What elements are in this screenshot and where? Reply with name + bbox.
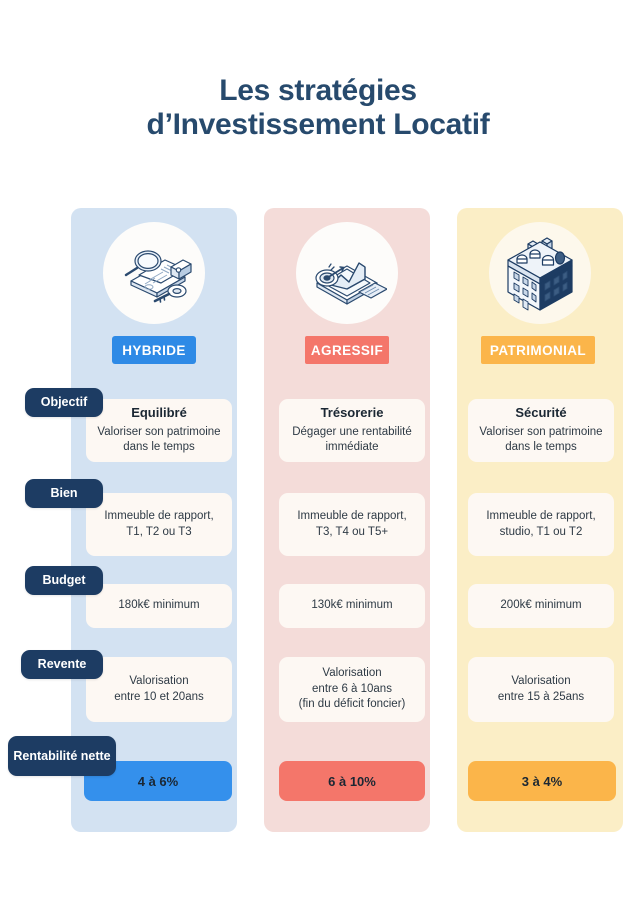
apartment-building-icon [502,232,578,314]
cell-body: Valorisation entre 6 à 10ans (fin du déf… [299,666,406,713]
magnifier-documents-key-icon [115,237,193,309]
cell-body: 180k€ minimum [118,598,199,614]
cell-body: Valorisation entre 10 et 20ans [114,674,204,705]
title-line-1: Les stratégies [0,74,636,108]
strategy-badge-patrimonial[interactable]: PATRIMONIAL [481,336,595,364]
cell-budget-patrimonial: 200k€ minimum [468,584,614,628]
cell-objectif-agressif: Trésorerie Dégager une rentabilité imméd… [279,399,425,462]
row-label-bien: Bien [25,479,103,508]
cell-body: Dégager une rentabilité immédiate [292,425,412,456]
cell-budget-agressif: 130k€ minimum [279,584,425,628]
page-title: Les stratégies d’Investissement Locatif [0,74,636,142]
cell-heading: Equilibré [131,405,187,421]
icon-circle-hybride [103,222,205,324]
cell-body: Valorisation entre 15 à 25ans [498,674,584,705]
row-label-revente: Revente [21,650,103,679]
cell-body: Valoriser son patrimoine dans le temps [479,425,602,456]
cell-body: Immeuble de rapport, T1, T2 ou T3 [104,509,213,540]
strategy-badge-agressif[interactable]: AGRESSIF [305,336,389,364]
cell-bien-agressif: Immeuble de rapport, T3, T4 ou T5+ [279,493,425,556]
cell-objectif-hybride: Equilibré Valoriser son patrimoine dans … [86,399,232,462]
row-label-objectif: Objectif [25,388,103,417]
icon-circle-patrimonial [489,222,591,324]
cell-objectif-patrimonial: Sécurité Valoriser son patrimoine dans l… [468,399,614,462]
strategy-badge-hybride[interactable]: HYBRIDE [112,336,196,364]
title-line-2: d’Investissement Locatif [0,108,636,142]
icon-circle-agressif [296,222,398,324]
row-label-budget: Budget [25,566,103,595]
cell-body: 200k€ minimum [500,598,581,614]
cell-rentabilite-agressif: 6 à 10% [279,761,425,801]
cell-body: 130k€ minimum [311,598,392,614]
cell-rentabilite-patrimonial: 3 à 4% [468,761,616,801]
cell-budget-hybride: 180k€ minimum [86,584,232,628]
cell-heading: Sécurité [515,405,566,421]
target-arrow-chart-tablet-icon [307,237,387,309]
cell-revente-patrimonial: Valorisation entre 15 à 25ans [468,657,614,722]
cell-body: Immeuble de rapport, T3, T4 ou T5+ [297,509,406,540]
cell-revente-agressif: Valorisation entre 6 à 10ans (fin du déf… [279,657,425,722]
cell-revente-hybride: Valorisation entre 10 et 20ans [86,657,232,722]
row-label-rentabilite: Rentabilité nette [8,736,116,776]
cell-bien-hybride: Immeuble de rapport, T1, T2 ou T3 [86,493,232,556]
cell-body: Immeuble de rapport, studio, T1 ou T2 [486,509,595,540]
cell-heading: Trésorerie [321,405,384,421]
cell-body: Valoriser son patrimoine dans le temps [97,425,220,456]
cell-bien-patrimonial: Immeuble de rapport, studio, T1 ou T2 [468,493,614,556]
